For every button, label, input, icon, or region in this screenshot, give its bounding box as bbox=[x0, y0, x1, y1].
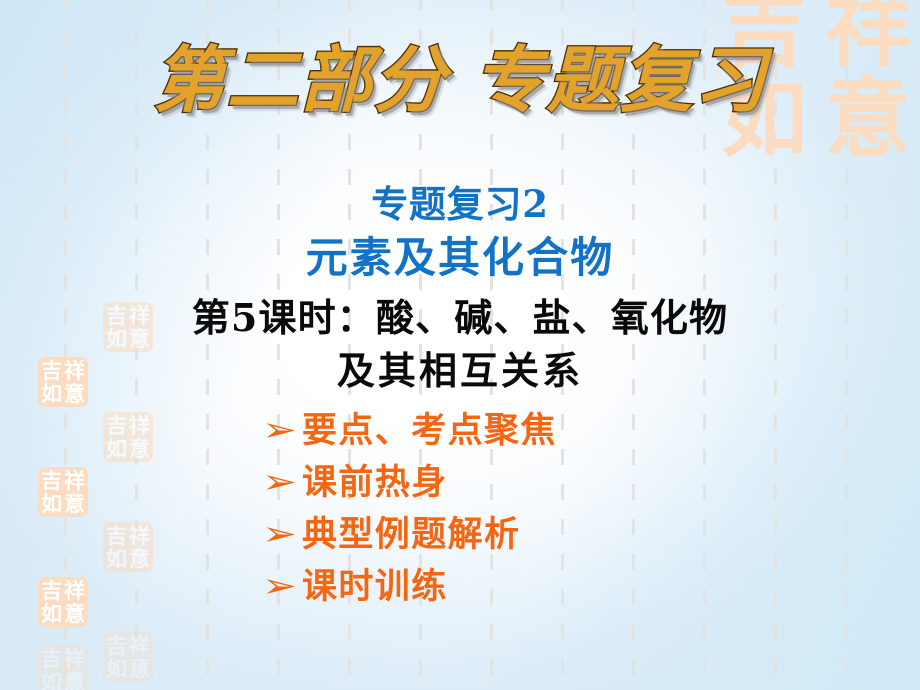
arrow-bullet-icon: ➢ bbox=[262, 517, 316, 550]
agenda-bullet-list: ➢ 要点、考点聚焦 ➢ 课前热身 ➢ 典型例题解析 ➢ 课时训练 bbox=[262, 404, 742, 612]
list-item[interactable]: ➢ 课时训练 bbox=[262, 560, 742, 612]
seal-watermark-small: 吉 祥 如 意 bbox=[38, 577, 88, 627]
seal-char: 吉 bbox=[41, 470, 62, 491]
list-item-label: 课前热身 bbox=[302, 465, 448, 500]
seal-char: 吉 bbox=[41, 580, 62, 601]
lesson-title-line2: 及其相互关系 bbox=[0, 340, 920, 395]
seal-char: 意 bbox=[129, 548, 150, 569]
slide-main-title: 第二部分 专题复习 bbox=[0, 42, 920, 118]
seal-watermark-small: 吉 祥 如 意 bbox=[103, 632, 153, 682]
seal-char: 吉 bbox=[106, 525, 127, 546]
arrow-bullet-icon: ➢ bbox=[262, 569, 316, 602]
seal-char: 意 bbox=[64, 603, 85, 624]
seal-char: 吉 bbox=[106, 635, 127, 656]
seal-watermark-small: 吉 祥 如 意 bbox=[38, 467, 88, 517]
seal-char: 意 bbox=[64, 671, 85, 690]
seal-watermark-small: 吉 祥 如 意 bbox=[103, 522, 153, 572]
seal-char: 意 bbox=[129, 658, 150, 679]
seal-char: 意 bbox=[64, 493, 85, 514]
arrow-bullet-icon: ➢ bbox=[262, 465, 316, 498]
subtitle-theme: 元素及其化合物 bbox=[0, 224, 920, 285]
seal-char: 如 bbox=[41, 603, 62, 624]
list-item[interactable]: ➢ 课前热身 bbox=[262, 456, 742, 508]
seal-watermark-small: 吉 祥 如 意 bbox=[103, 412, 153, 462]
seal-char: 祥 bbox=[64, 648, 85, 669]
seal-char: 祥 bbox=[129, 635, 150, 656]
seal-char: 吉 bbox=[41, 648, 62, 669]
seal-char: 如 bbox=[106, 438, 127, 459]
seal-char: 吉 bbox=[106, 415, 127, 436]
seal-char: 如 bbox=[41, 671, 62, 690]
subtitle-topic: 专题复习2 bbox=[0, 174, 920, 228]
seal-char: 祥 bbox=[129, 525, 150, 546]
seal-watermark-small: 吉 祥 如 意 bbox=[38, 645, 88, 690]
seal-char: 如 bbox=[106, 658, 127, 679]
lesson-title-line1: 第5课时：酸、碱、盐、氧化物 bbox=[0, 287, 920, 342]
seal-char: 祥 bbox=[129, 415, 150, 436]
list-item[interactable]: ➢ 要点、考点聚焦 bbox=[262, 404, 742, 456]
list-item-label: 典型例题解析 bbox=[302, 517, 520, 552]
list-item-label: 课时训练 bbox=[302, 569, 448, 604]
presentation-slide: 吉 祥 如 意 吉 祥 如 意 吉 祥 如 意 吉 祥 如 意 吉 bbox=[0, 0, 920, 690]
arrow-bullet-icon: ➢ bbox=[262, 413, 316, 446]
list-item[interactable]: ➢ 典型例题解析 bbox=[262, 508, 742, 560]
seal-char: 祥 bbox=[64, 580, 85, 601]
seal-char: 意 bbox=[129, 438, 150, 459]
seal-char: 如 bbox=[106, 548, 127, 569]
seal-char: 如 bbox=[41, 493, 62, 514]
seal-char: 祥 bbox=[64, 470, 85, 491]
list-item-label: 要点、考点聚焦 bbox=[302, 413, 557, 448]
